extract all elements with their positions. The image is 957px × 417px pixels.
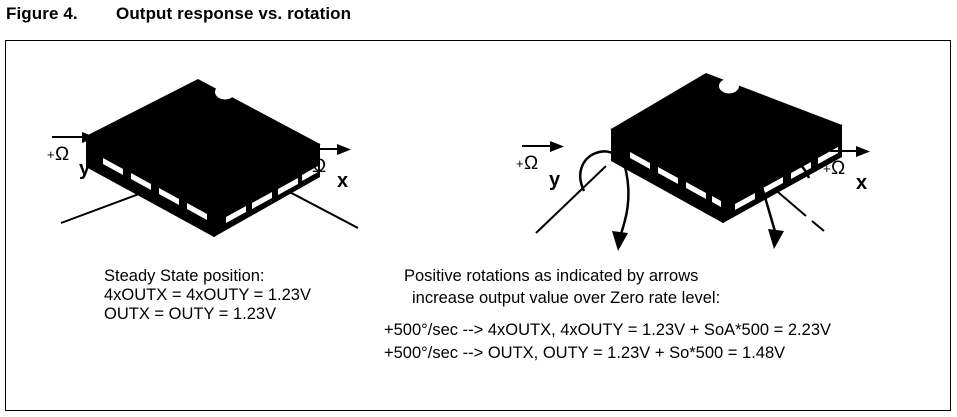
right-x-omega-symbol: Ω	[831, 158, 845, 179]
left-caption-line-3: OUTX = OUTY = 1.23V	[104, 305, 276, 323]
left-y-axis-label: y	[79, 158, 91, 180]
formula-line-1: +500°/sec --> 4xOUTX, 4xOUTY = 1.23V + S…	[384, 321, 831, 339]
left-caption-line-1: Steady State position:	[104, 267, 265, 285]
figure-illustration: + Ω y + Ω x Steady State position: 4xOUT…	[6, 41, 952, 412]
right-y-omega-symbol: Ω	[524, 153, 538, 174]
curved-rotation-arrow-y-head	[612, 231, 628, 251]
right-x-omega-sign: +	[823, 161, 831, 176]
curved-rotation-arrow-x-head	[768, 229, 784, 249]
right-chip-package	[611, 73, 842, 223]
left-y-omega-symbol: Ω	[55, 144, 69, 165]
left-diagram-group: + Ω y + Ω x Steady State position: 4xOUT…	[47, 79, 358, 323]
right-y-axis-label: y	[549, 169, 561, 191]
right-caption-line-1: Positive rotations as indicated by arrow…	[404, 267, 698, 285]
figure-title: Output response vs. rotation	[116, 4, 351, 24]
right-y-omega-sign: +	[516, 156, 524, 171]
left-x-axis-label: x	[337, 170, 348, 192]
right-x-axis-label: x	[856, 172, 867, 194]
figure-label: Figure 4.	[6, 4, 116, 24]
figure-frame: + Ω y + Ω x Steady State position: 4xOUT…	[5, 40, 951, 411]
left-caption-block: Steady State position: 4xOUTX = 4xOUTY =…	[104, 267, 311, 323]
right-caption-block: Positive rotations as indicated by arrow…	[404, 267, 720, 307]
right-chip-pin1-dot	[719, 79, 739, 94]
right-x-omega-arrow-head	[856, 146, 870, 157]
formula-line-2: +500°/sec --> OUTX, OUTY = 1.23V + So*50…	[384, 344, 785, 362]
right-formula-block: +500°/sec --> 4xOUTX, 4xOUTY = 1.23V + S…	[384, 321, 831, 362]
right-diagram-group: + Ω y + Ω x Positive rotations as indica…	[384, 73, 870, 362]
right-caption-line-2: increase output value over Zero rate lev…	[412, 289, 720, 307]
right-y-axis-line	[536, 166, 606, 233]
figure-page: Figure 4. Output response vs. rotation	[0, 0, 957, 417]
left-caption-line-2: 4xOUTX = 4xOUTY = 1.23V	[104, 286, 311, 304]
figure-caption: Figure 4. Output response vs. rotation	[6, 4, 351, 24]
right-y-omega-arrow-head	[550, 141, 564, 152]
left-x-omega-symbol: Ω	[312, 156, 326, 177]
right-y-axis-label-group: + Ω y	[516, 141, 564, 191]
right-x-axis-line-dash	[812, 221, 824, 231]
left-chip-package	[86, 79, 320, 237]
left-x-omega-sign: +	[304, 159, 312, 174]
left-x-omega-arrow-head	[337, 144, 351, 155]
left-y-omega-sign: +	[47, 147, 55, 162]
left-chip-pin1-dot	[215, 85, 235, 100]
